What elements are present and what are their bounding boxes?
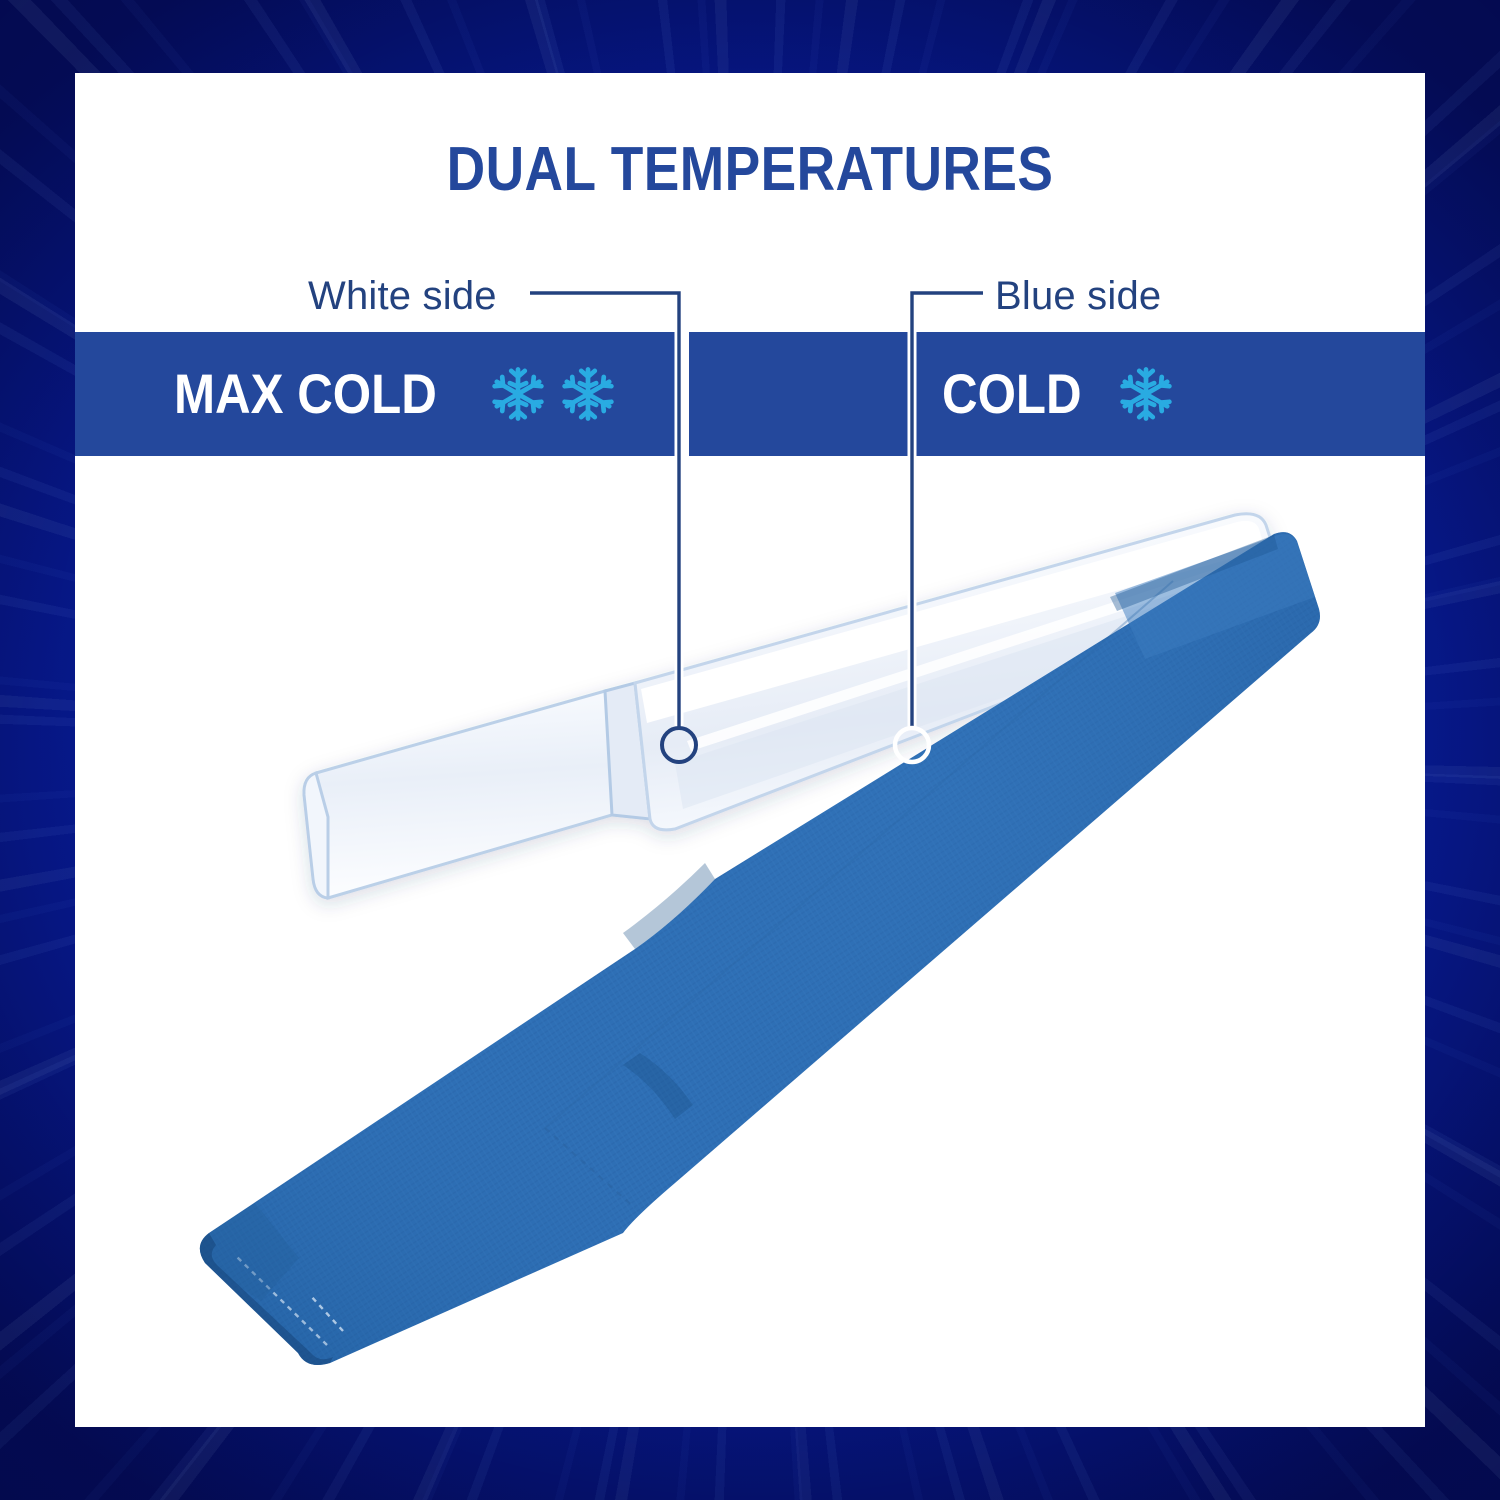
- banner-label-cold: COLD: [942, 366, 1082, 422]
- banner-divider: [681, 332, 689, 456]
- product-photo: [75, 73, 1425, 1427]
- infographic-canvas: DUAL TEMPERATURES White side Blue side: [0, 0, 1500, 1500]
- snowflake-group-cold: [1117, 365, 1175, 423]
- banner-segment-cold: COLD: [689, 332, 1425, 456]
- banner-segment-max-cold: MAX COLD: [75, 332, 681, 456]
- content-card: DUAL TEMPERATURES White side Blue side: [75, 73, 1425, 1427]
- snowflake-icon: [1117, 365, 1175, 423]
- snowflake-group-max-cold: [489, 365, 617, 423]
- temperature-banner: MAX COLD: [75, 332, 1425, 456]
- snowflake-icon: [489, 365, 547, 423]
- snowflake-icon: [559, 365, 617, 423]
- banner-label-max-cold: MAX COLD: [174, 366, 437, 422]
